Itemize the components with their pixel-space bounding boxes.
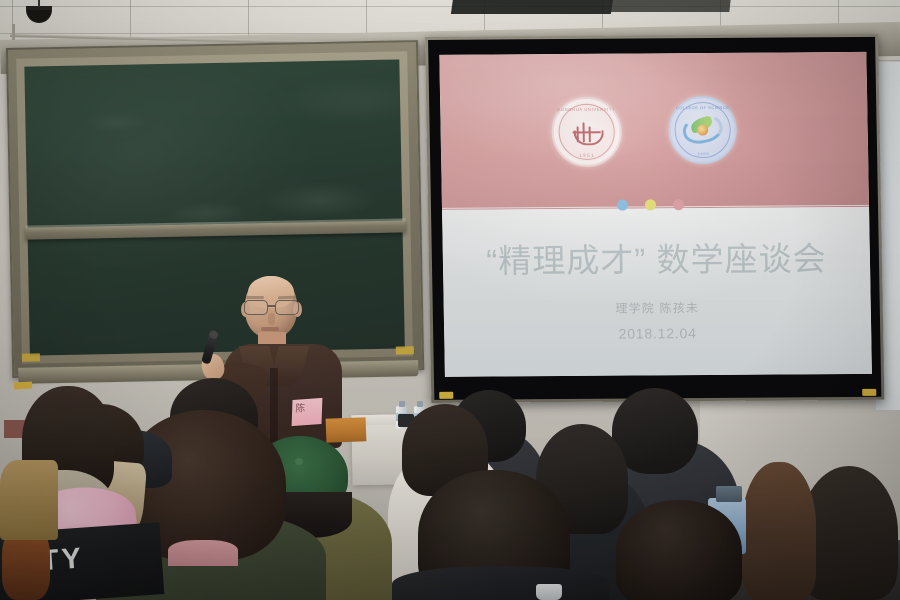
student-bottom-right-head	[616, 500, 742, 600]
slide-date: 2018.12.04	[444, 324, 871, 343]
seal-bowl	[574, 131, 604, 146]
seal-torch-mark	[571, 119, 601, 145]
orange-box	[326, 417, 367, 442]
dot-blue-icon	[617, 200, 628, 211]
screen-clip-right	[862, 389, 876, 396]
student-front-center-collar	[168, 540, 238, 566]
donghua-university-seal-icon: DONGHUA UNIVERSITY 1951	[551, 97, 622, 167]
wall-fixture-tab	[14, 382, 32, 390]
college-seal-top-text: COLLEGE OF SCIENCE	[671, 105, 735, 110]
presenter-brow-left	[246, 296, 264, 299]
green-beret-nub	[295, 458, 303, 465]
seal-top-text: DONGHUA UNIVERSITY	[553, 107, 619, 112]
projection-screen[interactable]: DONGHUA UNIVERSITY 1951 COLLEGE OF SCIEN…	[425, 34, 884, 403]
student-far-right-hair	[742, 462, 816, 600]
college-seal-year-text: 1999	[671, 152, 735, 156]
slide-band-highlight	[439, 52, 869, 210]
classroom-photo: DONGHUA UNIVERSITY 1951 COLLEGE OF SCIEN…	[0, 0, 900, 600]
ceiling-vent	[451, 0, 613, 14]
college-of-science-seal-icon: COLLEGE OF SCIENCE 1999	[669, 96, 738, 164]
pink-name-card: 陈	[292, 398, 323, 426]
presenter-jacket-placket	[270, 368, 278, 446]
college-seal-core	[698, 125, 709, 136]
seal-year-text: 1951	[554, 153, 620, 158]
presentation-slide: DONGHUA UNIVERSITY 1951 COLLEGE OF SCIEN…	[439, 52, 872, 377]
chalkboard-corner-tab-left	[22, 353, 40, 361]
slide-title: “精理成才” 数学座谈会	[442, 232, 870, 283]
glasses-lens-right	[275, 300, 299, 315]
dot-yellow-icon	[645, 200, 656, 211]
chalkboard-corner-tab-right	[396, 346, 414, 354]
chalkboard-surface	[24, 59, 404, 355]
student-olive-shoulder	[0, 460, 58, 540]
slide-subtitle: 理学院 陈孩未	[444, 298, 871, 318]
screen-clip-left	[439, 392, 453, 399]
presenter-mouth	[261, 327, 279, 331]
glasses-bridge	[267, 305, 276, 307]
presenter-nose	[268, 313, 275, 325]
chair-right-backrest	[716, 486, 742, 502]
wall-conduit-drop	[12, 24, 15, 40]
ceiling-vent-secondary	[609, 0, 730, 12]
dot-pink-icon	[673, 199, 684, 210]
glasses-lens-left	[244, 300, 268, 315]
slide-decorative-dots	[617, 199, 684, 210]
paper-cup	[536, 584, 562, 600]
presenter-glasses	[243, 300, 300, 314]
chalk-dust-marks	[24, 59, 404, 355]
student-front-right-body	[392, 566, 610, 600]
